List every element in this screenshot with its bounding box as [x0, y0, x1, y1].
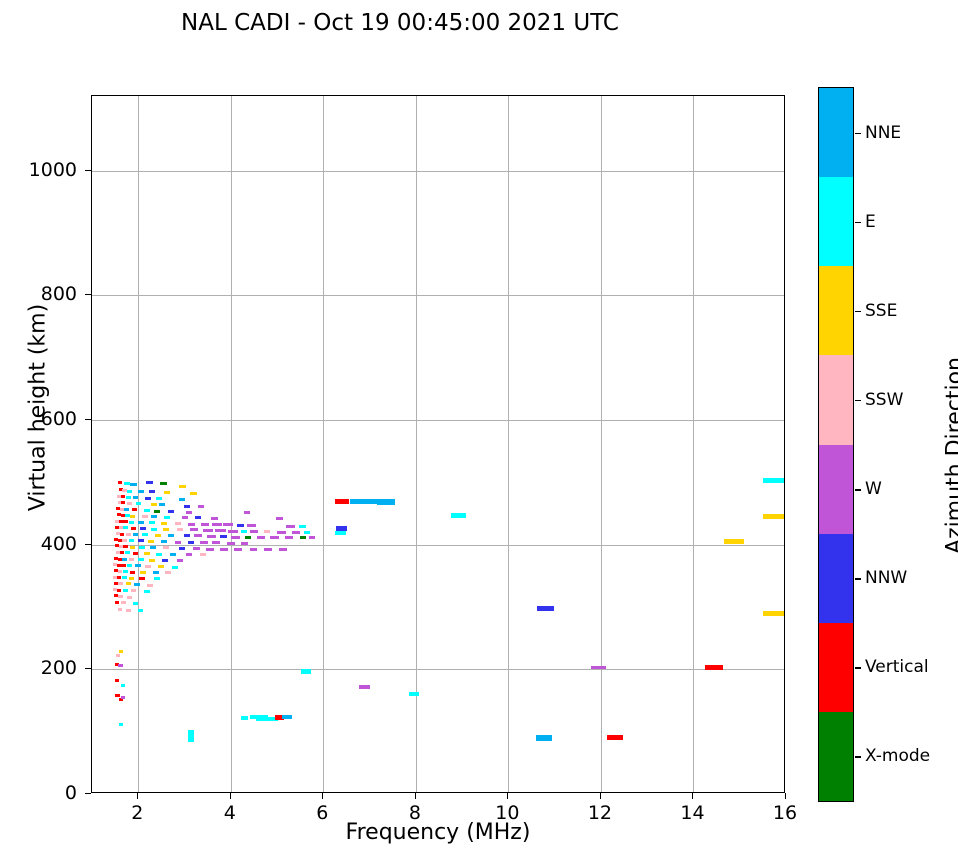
echo-mark: [120, 551, 124, 554]
echo-mark: [139, 577, 145, 580]
x-tick: [600, 793, 601, 799]
echo-mark: [336, 526, 347, 531]
gridline-vertical: [601, 96, 602, 792]
echo-mark: [309, 536, 315, 539]
echo-mark: [364, 499, 377, 504]
echo-mark: [257, 536, 265, 539]
echo-mark: [127, 502, 132, 505]
echo-mark: [121, 495, 125, 498]
echo-mark: [115, 601, 119, 604]
echo-mark: [138, 539, 144, 542]
echo-mark: [335, 531, 346, 535]
echo-mark: [149, 521, 155, 524]
echo-mark: [215, 529, 226, 532]
echo-mark: [190, 528, 198, 531]
echo-mark: [168, 510, 174, 513]
echo-mark: [123, 545, 128, 548]
echo-mark: [724, 539, 744, 544]
echo-mark: [151, 503, 157, 506]
echo-mark: [129, 521, 134, 524]
echo-mark: [121, 684, 125, 687]
echo-mark: [120, 533, 124, 536]
echo-mark: [250, 548, 257, 551]
echo-mark: [179, 547, 185, 550]
echo-mark: [115, 679, 119, 682]
echo-mark: [125, 514, 130, 517]
echo-mark: [212, 541, 220, 544]
echo-mark: [194, 534, 202, 537]
colorbar-label-x-mode: X-mode: [865, 746, 930, 766]
echo-mark: [131, 589, 136, 592]
echo-mark: [140, 527, 146, 530]
echo-mark: [121, 601, 126, 604]
gridline-horizontal: [92, 420, 784, 421]
echo-mark: [172, 566, 178, 569]
echo-mark: [144, 590, 150, 593]
echo-mark: [124, 482, 130, 485]
echo-mark: [350, 499, 364, 504]
echo-mark: [203, 529, 213, 532]
echo-mark: [241, 530, 247, 533]
echo-mark: [127, 490, 132, 493]
y-tick-label: 200: [5, 657, 77, 679]
echo-mark: [155, 534, 161, 537]
echo-mark: [282, 715, 292, 719]
colorbar-segment-nne[interactable]: [819, 88, 853, 177]
colorbar-segment-e[interactable]: [819, 177, 853, 266]
echo-mark: [763, 611, 784, 616]
echo-mark: [277, 531, 286, 534]
echo-mark: [158, 565, 164, 568]
colorbar-label-ssw: SSW: [865, 390, 903, 410]
y-tick-label: 0: [5, 782, 77, 804]
echo-mark: [231, 536, 240, 539]
colorbar-tick: [855, 400, 861, 402]
echo-mark: [250, 530, 258, 533]
echo-mark: [234, 548, 242, 551]
y-axis-label: Virtual height (km): [26, 248, 51, 568]
y-tick: [85, 419, 91, 420]
gridline-vertical: [231, 96, 232, 792]
echo-mark: [211, 517, 218, 520]
echo-mark: [220, 548, 228, 551]
echo-mark: [117, 589, 121, 592]
echo-mark: [200, 553, 206, 556]
echo-mark: [299, 525, 306, 528]
echo-mark: [150, 546, 156, 549]
echo-mark: [276, 517, 283, 520]
colorbar-tick: [855, 222, 861, 224]
echo-mark: [160, 482, 167, 485]
echo-mark: [127, 564, 132, 567]
echo-mark: [149, 559, 155, 562]
colorbar-label-e: E: [865, 212, 876, 232]
echo-mark: [188, 541, 194, 544]
echo-mark: [120, 508, 124, 511]
echo-mark: [188, 523, 195, 526]
echo-mark: [121, 696, 125, 699]
plot-area[interactable]: [91, 95, 785, 793]
echo-mark: [162, 559, 168, 562]
echo-mark: [133, 496, 138, 499]
echo-mark: [212, 523, 222, 526]
y-tick: [85, 544, 91, 545]
echo-mark: [153, 571, 159, 574]
echo-mark: [177, 528, 183, 531]
echo-mark: [163, 528, 169, 531]
echo-mark: [138, 609, 143, 612]
echo-mark: [195, 516, 201, 519]
colorbar-tick: [855, 756, 861, 758]
echo-mark: [188, 730, 194, 742]
y-tick: [85, 668, 91, 669]
echo-mark: [179, 498, 185, 501]
colorbar-tick: [855, 133, 861, 135]
echo-mark: [591, 666, 606, 669]
colorbar-tick: [855, 489, 861, 491]
x-tick: [692, 793, 693, 799]
echo-mark: [129, 558, 134, 561]
echo-mark: [118, 570, 122, 573]
echo-mark: [175, 541, 181, 544]
echo-mark: [145, 565, 151, 568]
echo-mark: [148, 540, 154, 543]
echo-mark: [134, 583, 140, 586]
echo-mark: [184, 505, 190, 508]
echo-mark: [122, 576, 127, 579]
echo-mark: [142, 533, 148, 536]
echo-mark: [147, 584, 153, 587]
echo-mark: [377, 499, 395, 505]
x-tick: [137, 793, 138, 799]
echo-mark: [133, 552, 138, 555]
echo-mark: [151, 515, 157, 518]
echo-mark: [228, 530, 238, 533]
echo-mark: [127, 596, 132, 599]
echo-mark: [206, 548, 214, 551]
echo-mark: [126, 609, 131, 612]
echo-mark: [182, 516, 188, 519]
echo-mark: [144, 552, 150, 555]
echo-mark: [142, 515, 148, 518]
echo-mark: [285, 536, 293, 539]
echo-mark: [123, 570, 128, 573]
echo-mark: [223, 523, 233, 526]
echo-mark: [159, 503, 165, 506]
echo-mark: [164, 491, 170, 494]
echo-mark: [140, 571, 146, 574]
echo-mark: [129, 577, 134, 580]
echo-mark: [116, 654, 120, 657]
echo-mark: [179, 485, 186, 488]
echo-mark: [130, 483, 137, 486]
y-tick: [85, 294, 91, 295]
echo-mark: [139, 546, 145, 549]
echo-mark: [186, 511, 192, 514]
colorbar-title: Azimuth Direction: [943, 246, 958, 666]
echo-mark: [359, 685, 370, 689]
echo-mark: [118, 481, 122, 484]
echo-mark: [121, 564, 126, 567]
echo-mark: [126, 496, 131, 499]
echo-mark: [138, 490, 144, 493]
echo-mark: [124, 508, 129, 511]
x-tick: [785, 793, 786, 799]
page-title: NAL CADI - Oct 19 00:45:00 2021 UTC: [0, 10, 800, 36]
echo-mark: [227, 542, 235, 545]
echo-mark: [300, 536, 306, 539]
echo-mark: [451, 513, 466, 518]
echo-mark: [118, 582, 123, 585]
echo-mark: [135, 564, 141, 567]
echo-mark: [138, 558, 144, 561]
echo-mark: [244, 511, 250, 514]
echo-mark: [247, 524, 256, 527]
echo-mark: [175, 522, 181, 525]
gridline-horizontal: [92, 171, 784, 172]
echo-mark: [237, 524, 244, 527]
y-tick: [85, 793, 91, 794]
y-tick: [85, 170, 91, 171]
echo-mark: [161, 522, 167, 525]
echo-mark: [279, 548, 287, 551]
echo-mark: [170, 553, 176, 556]
echo-mark: [118, 664, 123, 667]
echo-mark: [335, 499, 349, 504]
echo-mark: [138, 521, 144, 524]
colorbar-segment-x-mode[interactable]: [819, 712, 853, 801]
echo-mark: [129, 539, 134, 542]
echo-mark: [122, 539, 127, 542]
echo-mark: [156, 497, 162, 500]
echo-mark: [168, 534, 174, 537]
colorbar-segment-vertical[interactable]: [819, 623, 853, 712]
echo-mark: [193, 547, 200, 550]
echo-mark: [207, 535, 216, 538]
echo-mark: [161, 540, 167, 543]
echo-mark: [130, 546, 135, 549]
colorbar-label-sse: SSE: [865, 301, 897, 321]
colorbar-segment-nnw[interactable]: [819, 534, 853, 623]
echo-mark: [130, 515, 135, 518]
x-axis-label: Frequency (MHz): [91, 820, 785, 845]
echo-mark: [304, 531, 310, 534]
echo-mark: [126, 533, 131, 536]
echo-mark: [119, 723, 123, 726]
echo-mark: [163, 546, 169, 549]
echo-mark: [118, 608, 122, 611]
y-tick-label: 1000: [5, 159, 77, 181]
echo-mark: [123, 520, 128, 523]
echo-mark: [144, 509, 150, 512]
echo-mark: [117, 576, 121, 579]
x-tick: [322, 793, 323, 799]
echo-mark: [119, 650, 123, 653]
echo-mark: [154, 510, 160, 513]
colorbar-label-nnw: NNW: [865, 568, 907, 588]
echo-mark: [301, 669, 311, 674]
echo-mark: [220, 535, 227, 538]
colorbar-label-vertical: Vertical: [865, 657, 929, 677]
echo-mark: [537, 606, 554, 611]
echo-mark: [121, 501, 125, 504]
colorbar-tick: [855, 578, 861, 580]
echo-mark: [264, 548, 272, 551]
colorbar-segment-ssw[interactable]: [819, 355, 853, 444]
echo-mark: [184, 534, 190, 537]
echo-mark: [165, 571, 171, 574]
colorbar-label-w: W: [865, 479, 882, 499]
echo-mark: [133, 602, 138, 605]
gridline-vertical: [138, 96, 139, 792]
echo-mark: [149, 490, 155, 493]
echo-mark: [115, 694, 120, 697]
echo-mark: [132, 508, 137, 511]
echo-mark: [201, 523, 209, 526]
colorbar-tick: [855, 311, 861, 313]
gridline-horizontal: [92, 545, 784, 546]
echo-mark: [123, 589, 128, 592]
echo-mark: [151, 528, 157, 531]
echo-mark: [133, 533, 138, 536]
echo-mark: [156, 553, 162, 556]
echo-mark: [200, 541, 208, 544]
echo-mark: [131, 527, 136, 530]
echo-mark: [241, 716, 248, 720]
gridline-horizontal: [92, 669, 784, 670]
colorbar[interactable]: NNEESSESSWWNNWVerticalX-mode: [818, 87, 854, 802]
echo-mark: [607, 735, 623, 740]
ionogram-figure: NAL CADI - Oct 19 00:45:00 2021 UTC 2468…: [0, 0, 958, 857]
gridline-vertical: [416, 96, 417, 792]
echo-mark: [154, 577, 160, 580]
colorbar-tick: [855, 667, 861, 669]
colorbar-label-nne: NNE: [865, 123, 901, 143]
echo-mark: [136, 502, 141, 505]
echo-mark: [292, 531, 300, 534]
colorbar-segment-sse[interactable]: [819, 266, 853, 355]
echo-mark: [186, 553, 192, 556]
echo-mark: [122, 489, 127, 492]
echo-mark: [164, 516, 170, 519]
x-tick: [507, 793, 508, 799]
echo-mark: [264, 530, 270, 533]
echo-mark: [118, 595, 123, 598]
echo-mark: [763, 514, 784, 519]
gridline-vertical: [508, 96, 509, 792]
x-tick: [230, 793, 231, 799]
echo-mark: [241, 542, 248, 545]
colorbar-segment-w[interactable]: [819, 445, 853, 534]
echo-mark: [763, 478, 784, 483]
x-tick: [415, 793, 416, 799]
echo-mark: [245, 536, 251, 539]
gridline-vertical: [323, 96, 324, 792]
echo-mark: [123, 526, 128, 529]
gridline-horizontal: [92, 295, 784, 296]
echo-mark: [177, 559, 183, 562]
echo-mark: [145, 497, 151, 500]
echo-mark: [190, 492, 197, 495]
echo-mark: [286, 525, 295, 528]
echo-mark: [409, 692, 419, 696]
echo-mark: [536, 735, 552, 741]
echo-mark: [270, 536, 279, 539]
echo-mark: [122, 558, 127, 561]
echo-mark: [130, 571, 135, 574]
echo-mark: [125, 551, 130, 554]
echo-mark: [705, 665, 723, 670]
gridline-vertical: [693, 96, 694, 792]
echo-mark: [146, 481, 153, 484]
echo-mark: [126, 582, 131, 585]
echo-mark: [198, 505, 204, 508]
